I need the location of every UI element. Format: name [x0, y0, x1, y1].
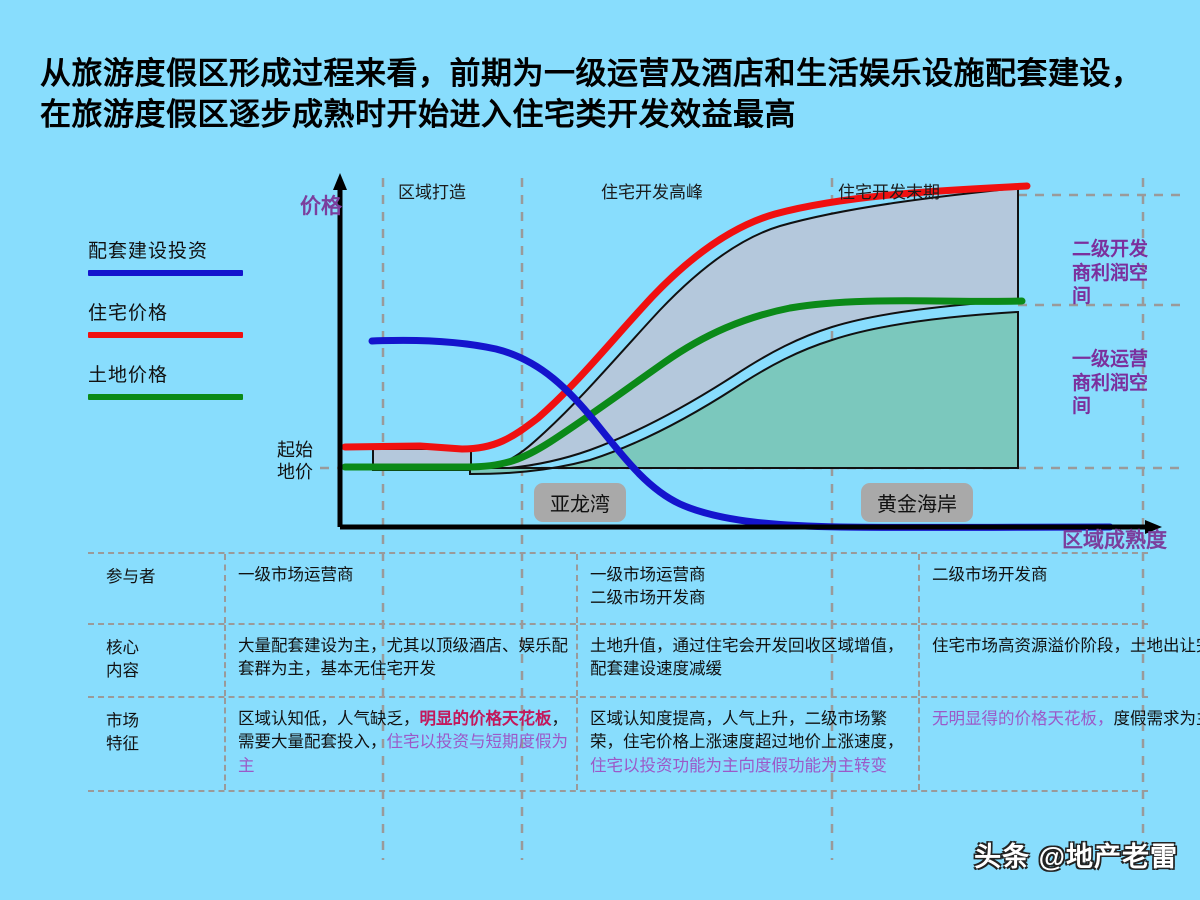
- note-secondary-line3: 间: [1072, 285, 1182, 309]
- cell-line: 二级市场开发商: [590, 587, 910, 610]
- note-secondary-developer-profit: 二级开发 商利润空 间: [1072, 238, 1182, 309]
- row-label-core-content: 核心 内容: [88, 625, 224, 696]
- table-row: 参与者 一级市场运营商 一级市场运营商 二级市场开发商 二级市场开发商: [88, 552, 1148, 623]
- note-primary-operator-profit: 一级运营 商利润空 间: [1072, 348, 1182, 419]
- row-label-market-features: 市场 特征: [88, 698, 224, 790]
- cell-line: 一级市场运营商: [590, 564, 910, 587]
- phase-label-2: 住宅开发末期: [838, 178, 940, 203]
- watermark: 头条 @地产老雷: [974, 835, 1178, 874]
- x-axis-label: 区域成熟度: [1062, 524, 1167, 554]
- phase-comparison-table: 参与者 一级市场运营商 一级市场运营商 二级市场开发商 二级市场开发商 核心 内…: [88, 552, 1148, 792]
- starting-land-price-label-line1: 起始: [277, 440, 313, 462]
- phase-label-1: 住宅开发高峰: [601, 178, 703, 203]
- cell-market-phase3: 无明显得的价格天花板，度假需求为主导: [918, 698, 1200, 790]
- badge-huangjinhaian[interactable]: 黄金海岸: [861, 483, 973, 522]
- row-label-line2: 特征: [106, 733, 216, 756]
- cell-line: 一级市场运营商: [238, 564, 568, 587]
- cell-line: 二级市场开发商: [932, 564, 1200, 587]
- table-row: 市场 特征 区域认知低，人气缺乏，明显的价格天花板，需要大量配套投入，住宅以投资…: [88, 696, 1148, 792]
- note-primary-line3: 间: [1072, 395, 1182, 419]
- row-label-line1: 市场: [106, 710, 216, 733]
- starting-land-price-label: 起始 地价: [277, 440, 313, 484]
- cell-core-phase3: 住宅市场高资源溢价阶段，土地出让完毕: [918, 625, 1200, 696]
- starting-land-price-label-line2: 地价: [277, 462, 313, 484]
- cell-market-phase2: 区域认知度提高，人气上升，二级市场繁荣，住宅价格上涨速度超过地价上涨速度，住宅以…: [576, 698, 918, 790]
- cell-participants-phase1: 一级市场运营商: [224, 554, 576, 623]
- text-segment-highlight: 明显的价格天花板: [420, 710, 552, 728]
- note-primary-line2: 商利润空: [1072, 372, 1182, 396]
- text-segment: 度假需求为主导: [1114, 710, 1200, 728]
- row-label-line1: 核心: [106, 637, 216, 660]
- text-segment: 区域认知度提高，人气上升，二级市场繁荣，住宅价格上涨速度超过地价上涨速度，: [590, 710, 904, 751]
- text-segment-purple: 无明显得的价格天花板，: [932, 710, 1114, 728]
- note-secondary-line2: 商利润空: [1072, 262, 1182, 286]
- cell-participants-phase2: 一级市场运营商 二级市场开发商: [576, 554, 918, 623]
- cell-participants-phase3: 二级市场开发商: [918, 554, 1200, 623]
- row-label-line2: 内容: [106, 660, 216, 683]
- note-secondary-line1: 二级开发: [1072, 238, 1182, 262]
- text-segment-purple: 住宅以投资功能为主向度假功能为主转变: [590, 757, 887, 775]
- phase-label-0: 区域打造: [398, 178, 466, 203]
- slide-root: 从旅游度假区形成过程来看，前期为一级运营及酒店和生活娱乐设施配套建设，在旅游度假…: [0, 0, 1200, 900]
- badge-yalongwan[interactable]: 亚龙湾: [534, 483, 626, 522]
- cell-market-phase1: 区域认知低，人气缺乏，明显的价格天花板，需要大量配套投入，住宅以投资与短期度假为…: [224, 698, 576, 790]
- row-label-participants: 参与者: [88, 554, 224, 623]
- text-segment: 区域认知低，人气缺乏，: [238, 710, 420, 728]
- cell-core-phase2: 土地升值，通过住宅会开发回收区域增值，配套建设速度减缓: [576, 625, 918, 696]
- table-row: 核心 内容 大量配套建设为主，尤其以顶级酒店、娱乐配套群为主，基本无住宅开发 土…: [88, 623, 1148, 696]
- note-primary-line1: 一级运营: [1072, 348, 1182, 372]
- cell-core-phase1: 大量配套建设为主，尤其以顶级酒店、娱乐配套群为主，基本无住宅开发: [224, 625, 576, 696]
- y-axis-label: 价格: [300, 190, 342, 220]
- y-axis-arrow: [333, 173, 347, 190]
